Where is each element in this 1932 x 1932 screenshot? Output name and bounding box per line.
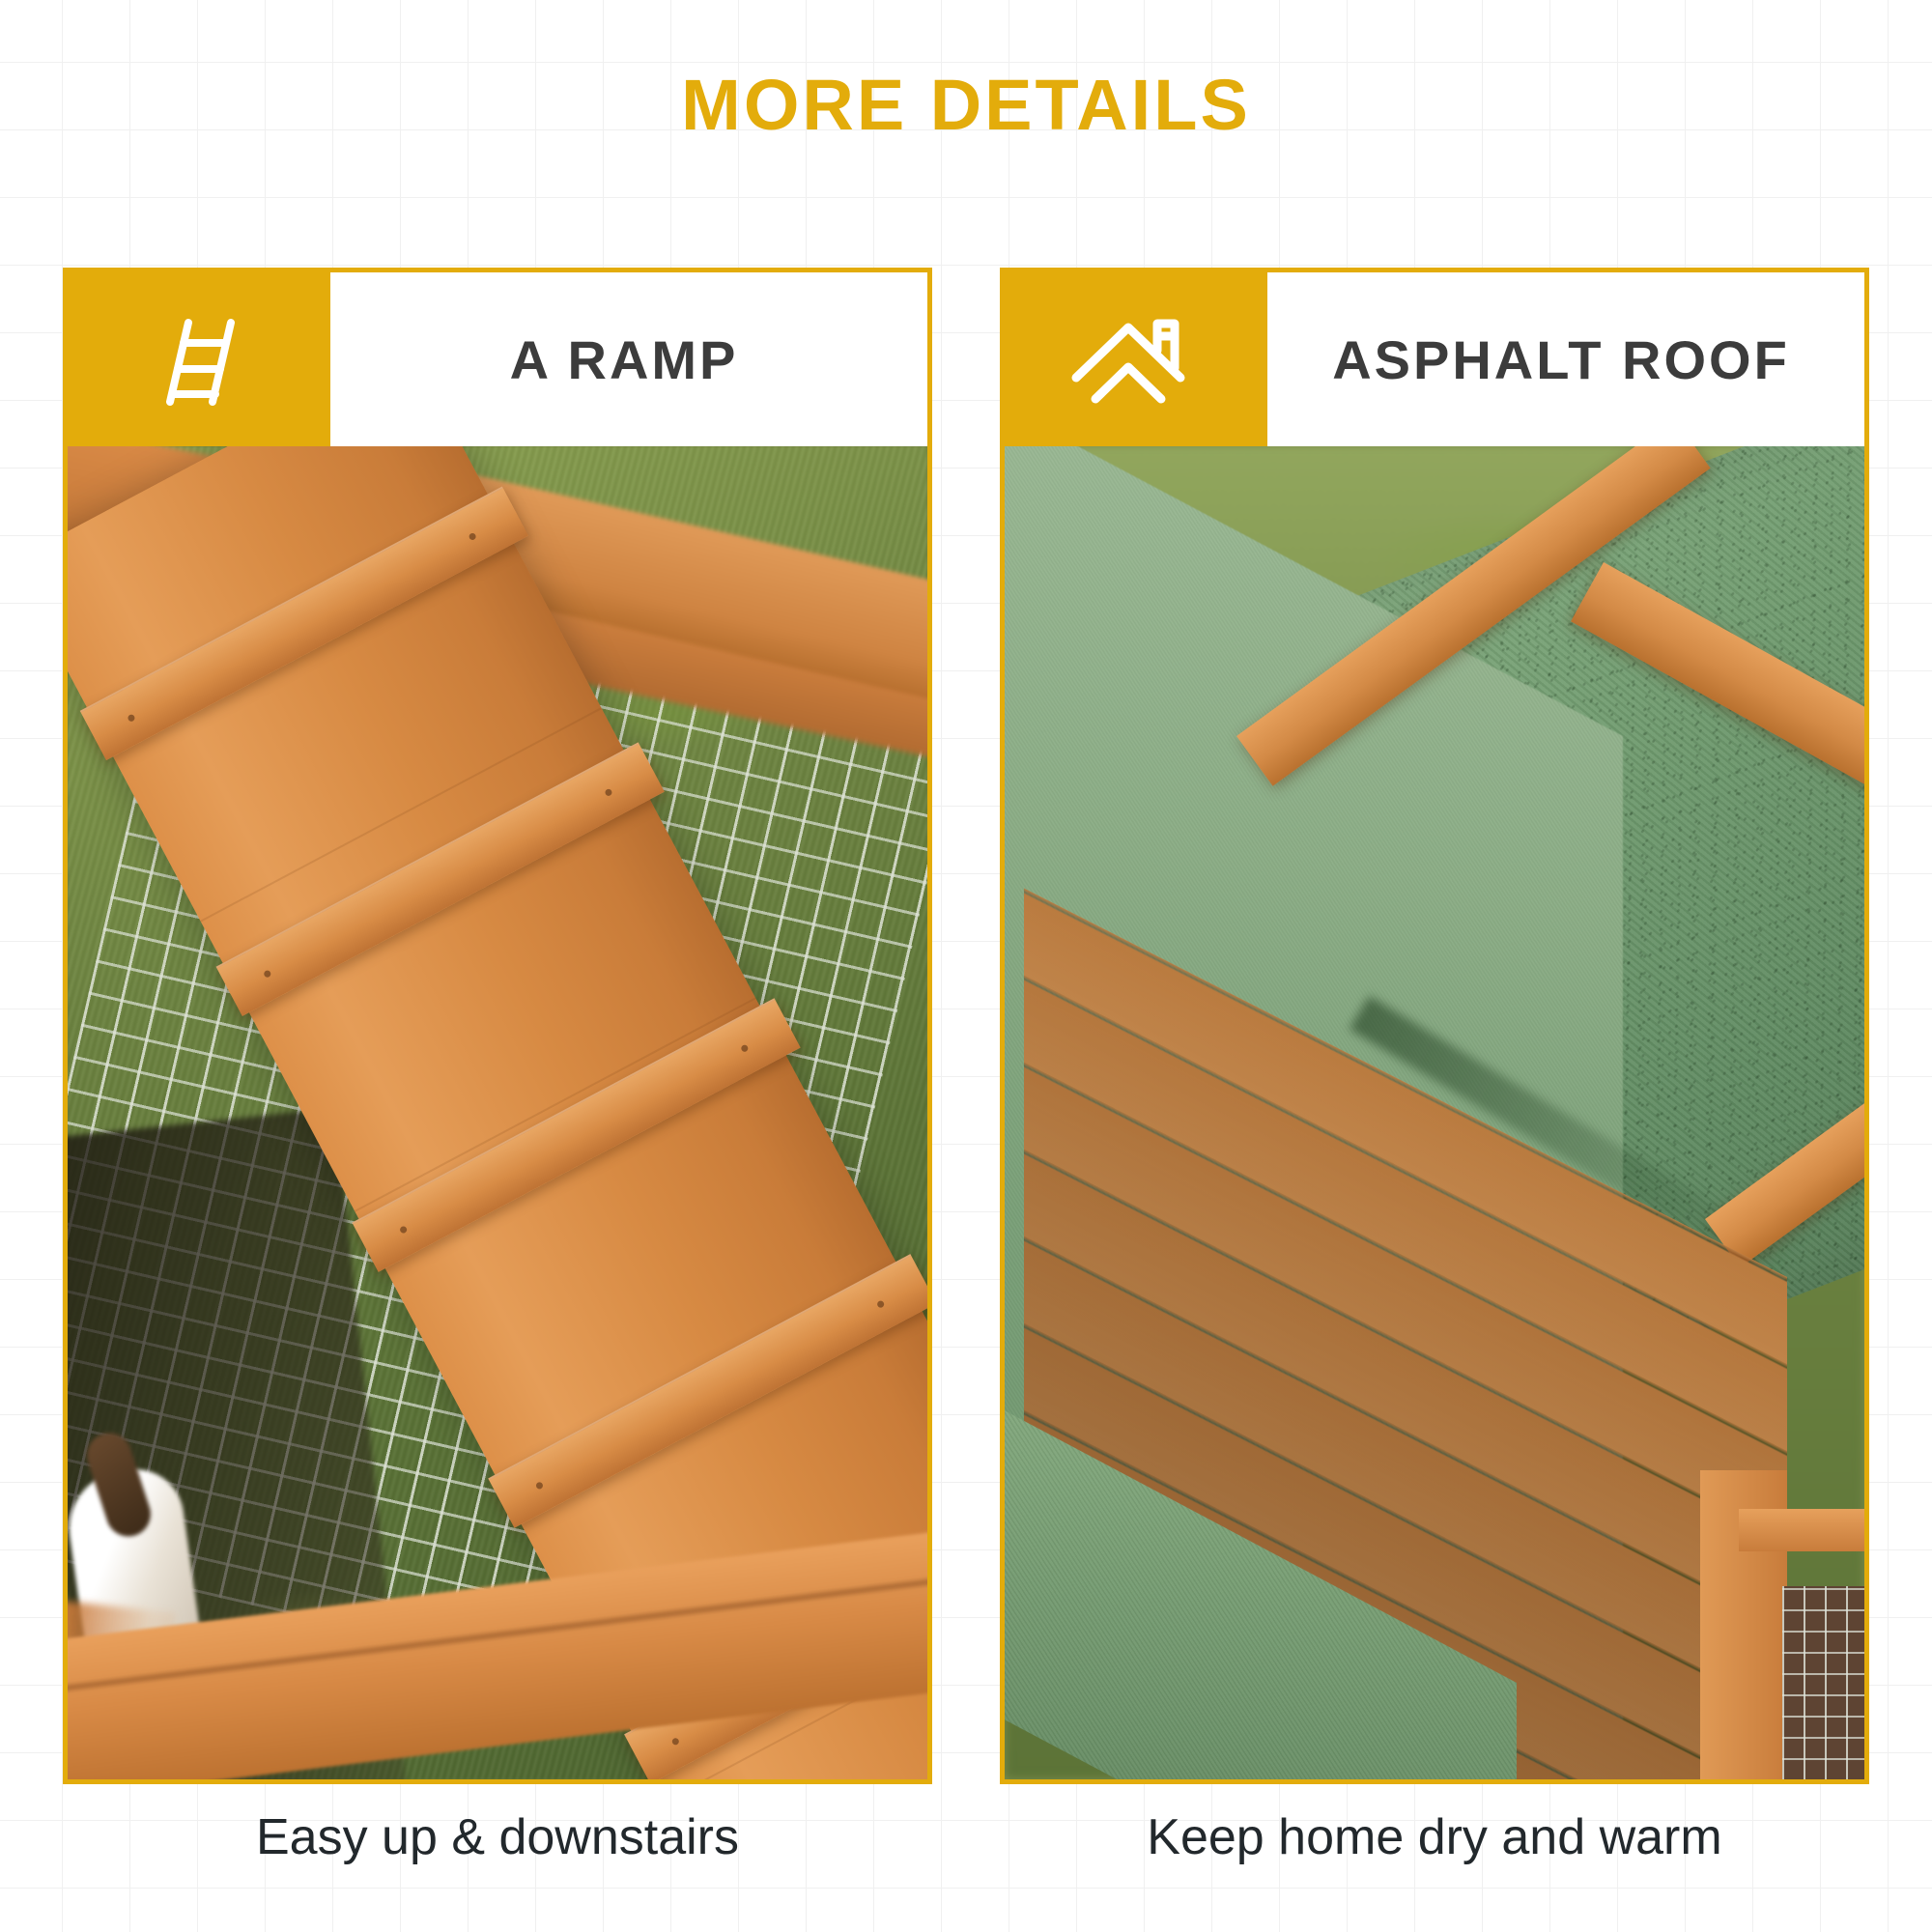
ladder-icon [141, 301, 257, 417]
more-details-page: MORE DETAILS A RAMP [0, 0, 1932, 1932]
caption-ramp: Easy up & downstairs [63, 1808, 932, 1866]
feature-panel-ramp: A RAMP [63, 268, 932, 1784]
photo-asphalt-roof [1005, 446, 1864, 1779]
panel-header: ASPHALT ROOF [1005, 272, 1864, 446]
panel-label-asphalt-roof: ASPHALT ROOF [1267, 272, 1864, 446]
panel-header: A RAMP [68, 272, 927, 446]
photo-ramp [68, 446, 927, 1779]
feature-panel-asphalt-roof: ASPHALT ROOF [1000, 268, 1869, 1784]
roof-icon-box [1005, 272, 1267, 446]
roof-icon [1068, 306, 1204, 412]
page-title: MORE DETAILS [0, 64, 1932, 146]
ladder-icon-box [68, 272, 330, 446]
caption-asphalt-roof: Keep home dry and warm [1000, 1808, 1869, 1866]
panel-label-ramp: A RAMP [330, 272, 927, 446]
